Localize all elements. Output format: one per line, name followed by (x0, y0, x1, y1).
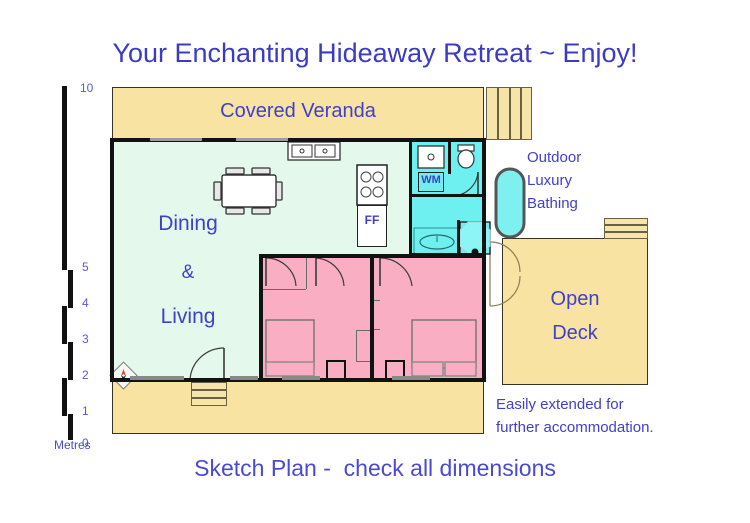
label-outdoor-luxury-bathing-line1: Outdoor (527, 146, 581, 169)
window-bedroom-2 (392, 376, 430, 380)
wall-living-bedroom (259, 254, 263, 382)
deck-step (604, 232, 648, 239)
living-exit-step (191, 390, 227, 398)
wall-utility-bathroom (409, 194, 486, 197)
label-open-deck-line1: Open (502, 282, 648, 316)
scale-unit-label: Metres (54, 438, 91, 452)
wall-between-bedrooms (370, 254, 374, 382)
deck-step (604, 218, 648, 225)
window-living-2 (230, 376, 258, 380)
label-fridge-freezer: FF (357, 213, 387, 227)
kitchen-cooktop (357, 165, 387, 205)
scale-segment (68, 342, 73, 380)
room-lower-veranda (112, 381, 484, 434)
wall-bathroom-bottom (409, 253, 486, 256)
deck-step (604, 225, 648, 232)
window-bedroom-1 (282, 376, 320, 380)
sketch-plan-caption: Sketch Plan - check all dimensions (0, 455, 750, 482)
window-living (130, 376, 184, 380)
window-top-2 (236, 138, 288, 141)
note-extension-line1: Easily extended for (496, 393, 624, 416)
wall-shower-side (457, 220, 460, 256)
veranda-step (498, 87, 510, 140)
nightstand-1 (326, 360, 346, 380)
scale-tick-10: 10 (80, 81, 93, 95)
scale-segment (62, 86, 67, 270)
scale-tick-5: 5 (82, 260, 89, 274)
scale-tick-2: 2 (82, 368, 89, 382)
label-dining: Dining (114, 212, 262, 236)
label-washing-machine: WM (418, 174, 444, 186)
wall-bathroom-left (409, 140, 412, 256)
living-exterior-door (190, 348, 226, 382)
living-exit-step (191, 398, 227, 406)
scale-tick-1: 1 (82, 404, 89, 418)
wall-utility-divider (448, 140, 451, 174)
label-outdoor-luxury-bathing-line2: Luxury (527, 169, 572, 192)
toilet-fixture (455, 145, 477, 171)
living-exit-step (191, 382, 227, 390)
veranda-step (521, 87, 532, 140)
shower-tray (460, 222, 492, 256)
closet-line-2 (306, 256, 307, 289)
closet-line-1 (262, 289, 306, 290)
scale-tick-3: 3 (82, 332, 89, 346)
note-extension-line2: further accommodation. (496, 416, 654, 439)
kitchen-double-sink (288, 142, 340, 160)
deck-double-door (488, 240, 522, 310)
bed-single-1 (266, 320, 324, 380)
page-title: Your Enchanting Hideaway Retreat ~ Enjoy… (0, 38, 750, 69)
scale-segment (68, 414, 73, 440)
window-top-1 (150, 138, 202, 141)
dining-table-and-chairs (214, 168, 294, 214)
scale-bar: 10 5 4 3 2 1 0 Metres (58, 86, 114, 451)
scale-tick-4: 4 (82, 296, 89, 310)
floor-plan-canvas: Your Enchanting Hideaway Retreat ~ Enjoy… (0, 0, 750, 523)
label-living: Living (114, 305, 262, 329)
label-ampersand: & (114, 262, 262, 284)
bed-double-2 (412, 320, 484, 380)
veranda-step (486, 87, 498, 140)
bathroom-basin (414, 228, 460, 254)
scale-segment (62, 378, 67, 416)
outdoor-bath-tub (495, 168, 527, 240)
scale-segment (68, 270, 73, 308)
utility-sink (418, 146, 444, 168)
bedroom-2-door (380, 258, 414, 288)
label-open-deck-line2: Deck (502, 316, 648, 350)
label-covered-veranda: Covered Veranda (112, 100, 484, 123)
veranda-step (510, 87, 521, 140)
bedroom-1-door (266, 258, 298, 288)
wall-exterior-right (482, 138, 486, 382)
scale-segment (62, 306, 67, 344)
label-outdoor-luxury-bathing-line3: Bathing (527, 192, 578, 215)
ensuite-door (316, 258, 346, 288)
wall-exterior-left (110, 140, 114, 382)
